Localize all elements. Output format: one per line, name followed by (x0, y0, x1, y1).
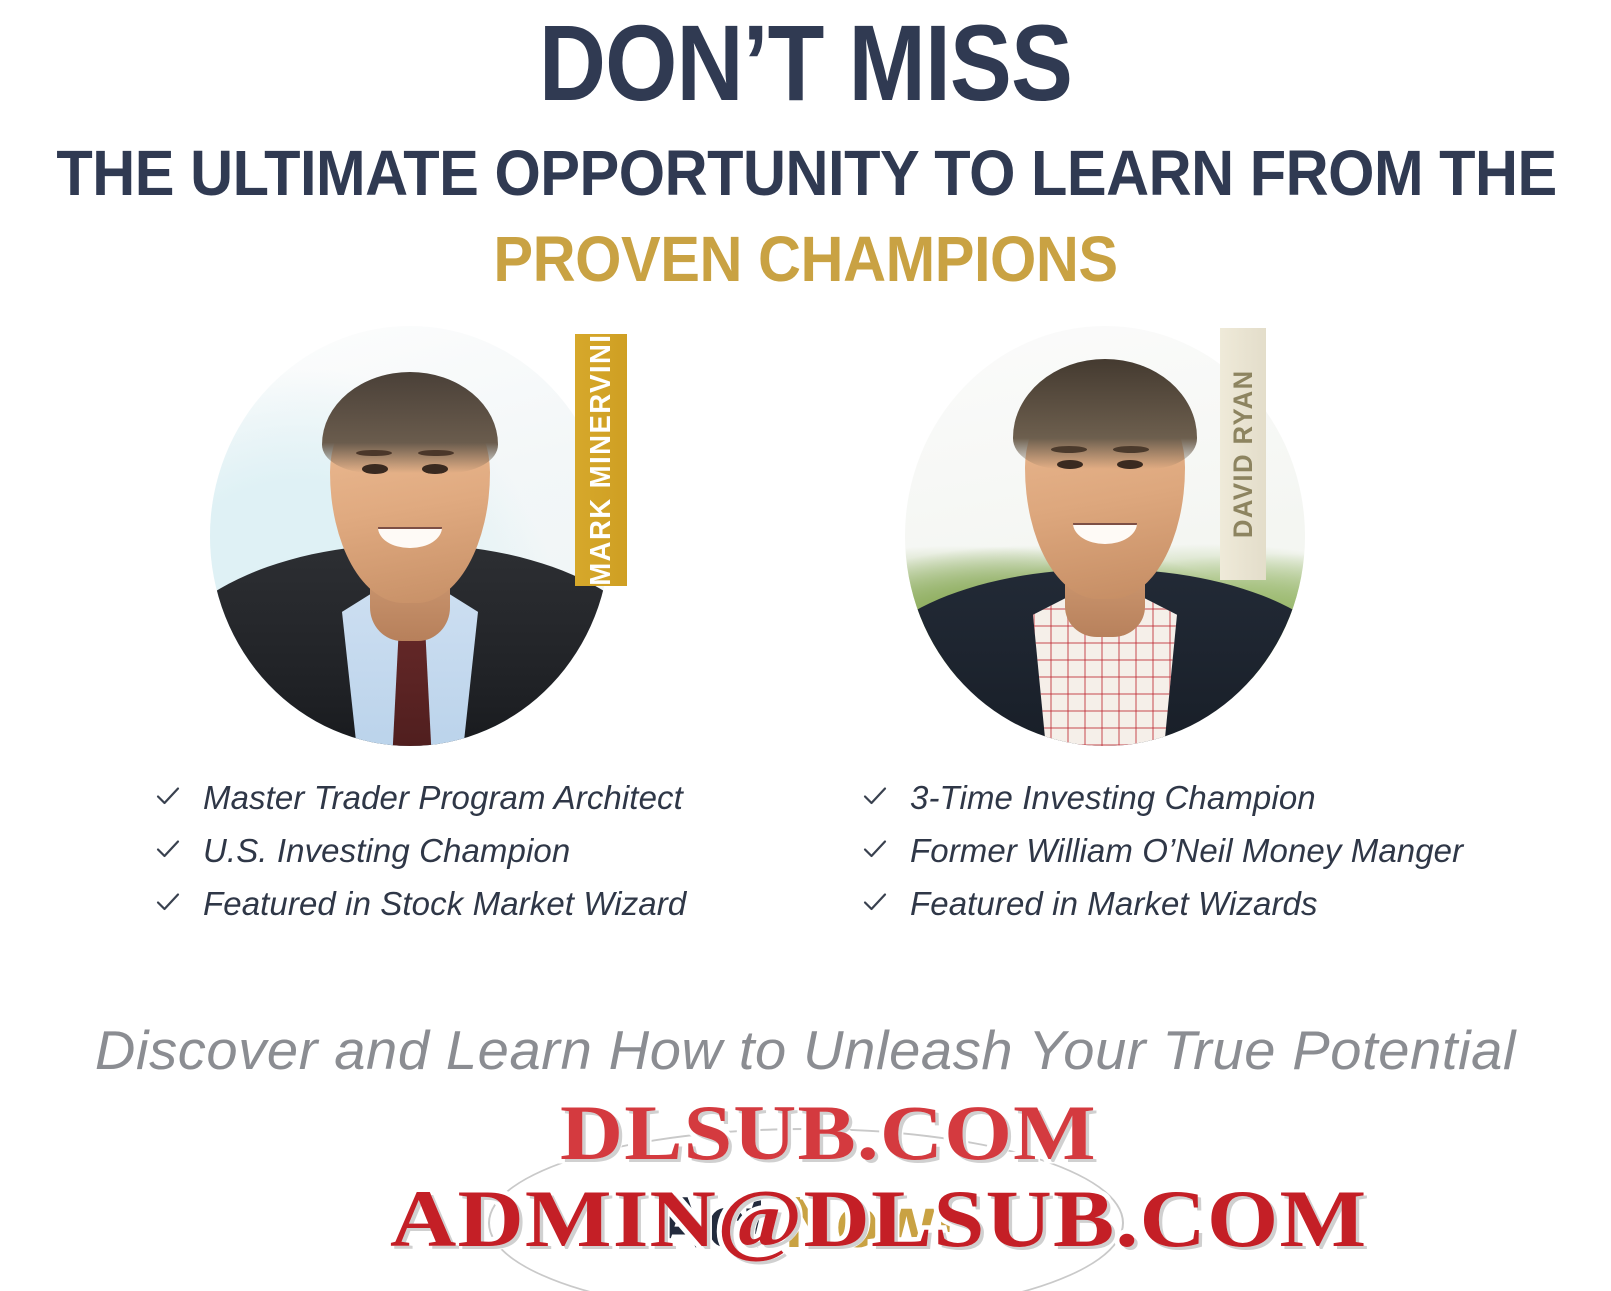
check-icon (155, 889, 181, 915)
list-item-label: Featured in Market Wizards (910, 885, 1318, 924)
portrait-eye-left (362, 464, 388, 474)
portrait-eyebrow-right (1113, 446, 1149, 453)
name-badge-label: DAVID RYAN (1228, 369, 1259, 538)
page-title-line-3: PROVEN CHAMPIONS (56, 226, 1554, 294)
speaker-photo-mark-minervini (210, 326, 610, 746)
portrait-eye-right (422, 464, 448, 474)
headline-block: DON’T MISS THE ULTIMATE OPPORTUNITY TO L… (0, 0, 1611, 294)
speaker-card-mark-minervini: MARK MINERVINI (180, 316, 650, 761)
speakers-row: MARK MINERVINI DAVID RYAN (0, 316, 1611, 761)
list-item: U.S. Investing Champion (155, 832, 686, 871)
list-item: Master Trader Program Architect (155, 779, 686, 818)
list-item-label: U.S. Investing Champion (203, 832, 570, 871)
credentials-list-david-ryan: 3-Time Investing Champion Former William… (862, 779, 1463, 938)
name-badge-label: MARK MINERVINI (585, 334, 618, 586)
check-icon (862, 889, 888, 915)
list-item-label: Featured in Stock Market Wizard (203, 885, 686, 924)
page-title-line-2: THE ULTIMATE OPPORTUNITY TO LEARN FROM T… (56, 140, 1554, 208)
check-icon (155, 836, 181, 862)
list-item-label: Master Trader Program Architect (203, 779, 683, 818)
list-item: Featured in Market Wizards (862, 885, 1463, 924)
list-item-label: Former William O’Neil Money Manger (910, 832, 1463, 871)
check-icon (862, 783, 888, 809)
credentials-list-mark-minervini: Master Trader Program Architect U.S. Inv… (155, 779, 686, 938)
check-icon (862, 836, 888, 862)
portrait-eyebrow-left (1051, 446, 1087, 453)
list-item: 3-Time Investing Champion (862, 779, 1463, 818)
speaker-card-david-ryan: DAVID RYAN (875, 316, 1345, 761)
check-icon (155, 783, 181, 809)
watermark-site: DLSUB.COM (560, 1088, 1097, 1178)
tagline: Discover and Learn How to Unleash Your T… (0, 1018, 1611, 1082)
watermark-email: ADMIN@DLSUB.COM (390, 1172, 1367, 1266)
credentials-row: Master Trader Program Architect U.S. Inv… (0, 779, 1611, 929)
list-item: Featured in Stock Market Wizard (155, 885, 686, 924)
page-title-line-1: DON’T MISS (113, 8, 1498, 118)
name-badge-david-ryan: DAVID RYAN (1220, 328, 1266, 580)
list-item: Former William O’Neil Money Manger (862, 832, 1463, 871)
name-badge-mark-minervini: MARK MINERVINI (575, 334, 627, 586)
list-item-label: 3-Time Investing Champion (910, 779, 1316, 818)
